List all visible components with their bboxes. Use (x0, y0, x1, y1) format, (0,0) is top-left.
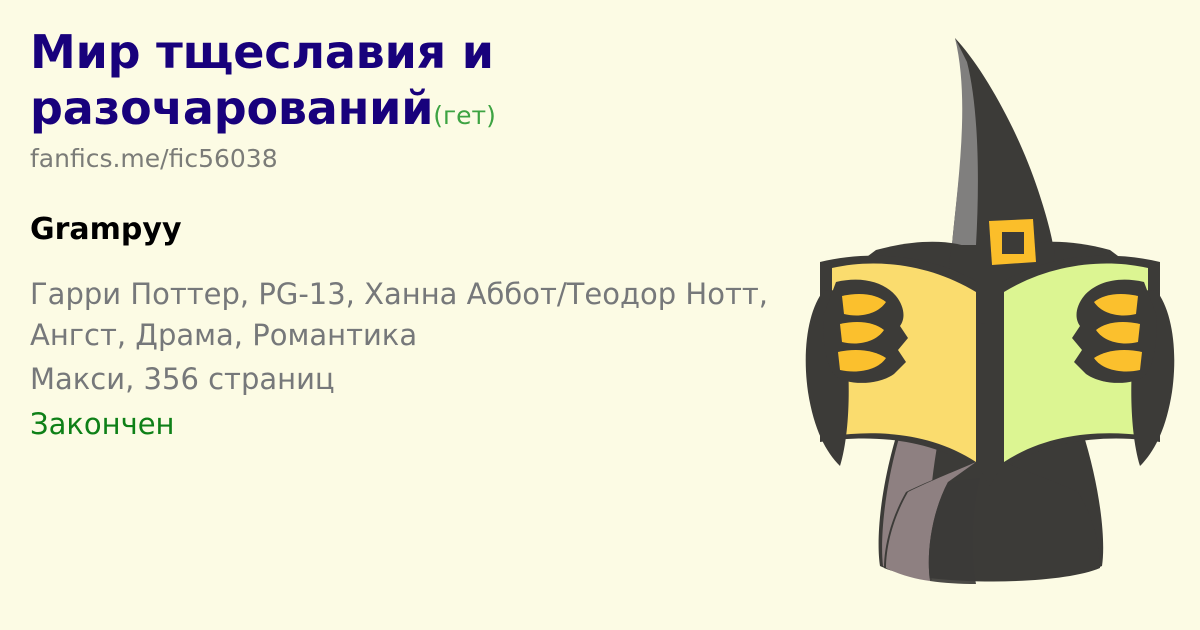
title-category-label: (гет) (433, 101, 496, 130)
page-title: Мир тщеславия и разочарований(гет) (30, 24, 790, 136)
witch-hat-icon (952, 38, 1054, 250)
title-text: Мир тщеславия и разочарований (30, 25, 494, 135)
fandom-tags-text: Гарри Поттер, PG-13, Ханна Аббот/Теодор … (30, 274, 770, 356)
witch-reading-book-illustration (780, 0, 1200, 630)
size-pages-text: Макси, 356 страниц (30, 359, 790, 400)
text-column: Мир тщеславия и разочарований(гет) fanfi… (30, 24, 790, 445)
author-name[interactable]: Grampyy (30, 212, 790, 248)
hat-buckle-icon (989, 219, 1036, 265)
preview-card: Мир тщеславия и разочарований(гет) fanfi… (0, 0, 1200, 630)
source-url[interactable]: fanfics.me/fic56038 (30, 144, 790, 174)
status-badge: Закончен (30, 404, 790, 445)
